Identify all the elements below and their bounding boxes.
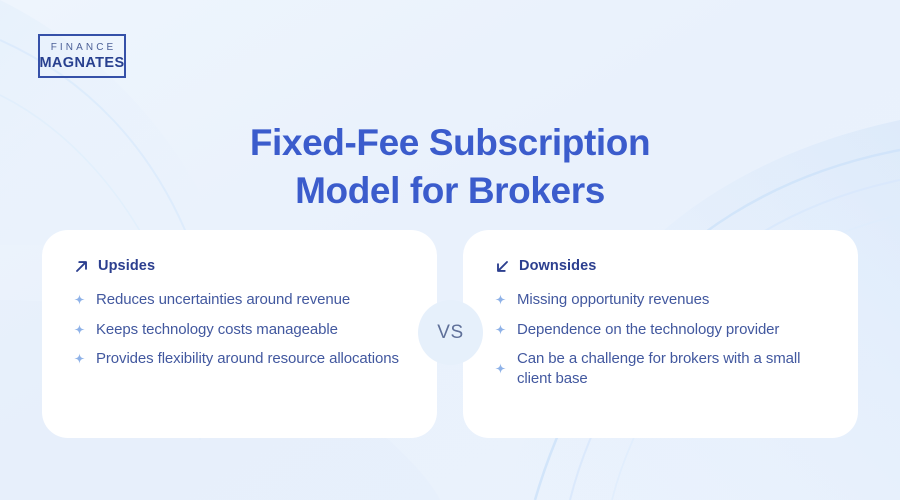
list-item: Dependence on the technology provider (495, 320, 832, 340)
downsides-list: Missing opportunity revenues Dependence … (495, 290, 832, 388)
sparkle-icon (495, 324, 506, 335)
list-item: Keeps technology costs manageable (74, 320, 411, 340)
page-title: Fixed-Fee Subscription Model for Brokers (0, 119, 900, 215)
sparkle-icon (74, 324, 85, 335)
arrow-down-left-icon (495, 259, 510, 274)
downsides-header: Downsides (495, 258, 832, 274)
list-item-text: Dependence on the technology provider (517, 320, 779, 340)
list-item-text: Reduces uncertainties around revenue (96, 290, 350, 310)
downsides-card: Downsides Missing opportunity revenues D… (463, 230, 858, 438)
list-item: Reduces uncertainties around revenue (74, 290, 411, 310)
upsides-list: Reduces uncertainties around revenue Kee… (74, 290, 411, 369)
list-item-text: Provides flexibility around resource all… (96, 349, 399, 369)
list-item: Provides flexibility around resource all… (74, 349, 411, 369)
sparkle-icon (495, 363, 506, 374)
page-title-line-2: Model for Brokers (0, 167, 900, 215)
downsides-heading: Downsides (519, 258, 596, 274)
sparkle-icon (495, 294, 506, 305)
arrow-up-right-icon (74, 259, 89, 274)
upsides-card: Upsides Reduces uncertainties around rev… (42, 230, 437, 438)
list-item: Can be a challenge for brokers with a sm… (495, 349, 832, 388)
list-item-text: Keeps technology costs manageable (96, 320, 338, 340)
vs-divider-badge: VS (418, 300, 483, 365)
list-item: Missing opportunity revenues (495, 290, 832, 310)
list-item-text: Missing opportunity revenues (517, 290, 709, 310)
page-title-line-1: Fixed-Fee Subscription (0, 119, 900, 167)
list-item-text: Can be a challenge for brokers with a sm… (517, 349, 832, 388)
upsides-heading: Upsides (98, 258, 155, 274)
sparkle-icon (74, 353, 85, 364)
logo-word-finance: FINANCE (48, 42, 117, 54)
finance-magnates-logo: FINANCE MAGNATES (38, 34, 126, 78)
vs-label: VS (437, 322, 464, 344)
infographic-canvas: FINANCE MAGNATES Fixed-Fee Subscription … (0, 0, 900, 500)
upsides-header: Upsides (74, 258, 411, 274)
sparkle-icon (74, 294, 85, 305)
logo-word-magnates: MAGNATES (39, 55, 124, 71)
